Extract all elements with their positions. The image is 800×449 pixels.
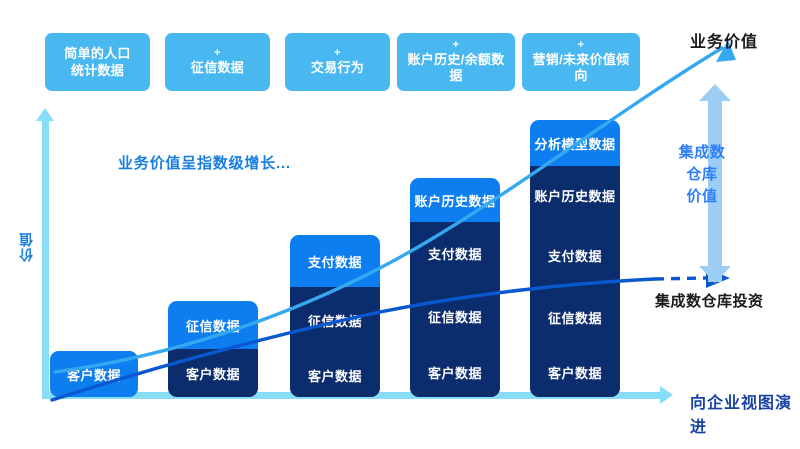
bar-4[interactable]: 账户历史数据 支付数据 征信数据 客户数据 [410,178,500,397]
bar-3-segment-1: 支付数据 [290,235,380,287]
bar-4-segment-2: 支付数据 [410,222,500,284]
segment-label: 客户数据 [67,365,121,384]
bar-3-segment-2: 征信数据 [290,287,380,353]
top-chip-2[interactable]: + 征信数据 [165,33,270,91]
dw-value-line-1: 集成数 [663,142,741,164]
dw-value-line-3: 价值 [663,186,741,208]
dw-value-arrow-down-icon [699,266,731,283]
y-axis-arrow-icon [36,108,54,121]
segment-label: 征信数据 [308,311,362,330]
top-chip-5[interactable]: + 营销/未来价值倾向 [522,33,640,91]
dw-investment-label: 集成数仓库投资 [655,290,764,311]
segment-label: 支付数据 [308,252,362,271]
dw-value-line-2: 仓库 [663,164,741,186]
chip-plus-4: + [453,40,460,51]
bar-2-segment-1: 征信数据 [168,301,258,349]
bar-3-segment-3: 客户数据 [290,353,380,397]
growth-note: 业务价值呈指数级增长... [118,152,291,173]
x-axis-label: 向企业视图演进 [690,389,800,437]
bar-4-segment-4: 客户数据 [410,348,500,397]
bar-3[interactable]: 支付数据 征信数据 客户数据 [290,235,380,397]
bar-4-segment-3: 征信数据 [410,284,500,348]
segment-label: 账户历史数据 [534,186,615,205]
bar-1-segment-1: 客户数据 [50,351,138,397]
chip-line2-1: 统计数据 [71,63,124,79]
chip-plus-2: + [214,48,221,59]
chip-line1-2: 征信数据 [191,60,244,76]
business-value-label: 业务价值 [690,28,758,52]
chip-line1-4: 账户历史/余额数据 [401,52,511,85]
segment-label: 客户数据 [428,363,482,382]
dw-value-label: 集成数 仓库 价值 [663,142,741,207]
bar-2-segment-2: 客户数据 [168,349,258,397]
segment-label: 分析模型数据 [534,134,615,153]
chip-line1-3: 交易行为 [311,60,364,76]
y-axis-label: 价值 [16,232,36,262]
bar-4-segment-1: 账户历史数据 [410,178,500,222]
chip-line1-5: 营销/未来价值倾向 [526,52,636,85]
segment-label: 支付数据 [428,244,482,263]
bar-1[interactable]: 客户数据 [50,351,138,397]
chip-line1-1: 简单的人口 [64,46,131,62]
segment-label: 客户数据 [186,364,240,383]
top-chip-1[interactable]: 简单的人口 统计数据 [45,33,150,91]
segment-label: 账户历史数据 [414,191,495,210]
top-chip-4[interactable]: + 账户历史/余额数据 [397,33,515,91]
bar-5[interactable]: 分析模型数据 账户历史数据 支付数据 征信数据 客户数据 [530,120,620,397]
x-axis-arrow-icon [660,386,673,404]
slide-canvas: 简单的人口 统计数据 + 征信数据 + 交易行为 + 账户历史/余额数据 + 营… [0,0,800,449]
bar-5-segment-5: 客户数据 [530,348,620,397]
segment-label: 征信数据 [428,307,482,326]
bar-5-segment-1: 分析模型数据 [530,120,620,166]
bar-5-segment-3: 支付数据 [530,224,620,286]
segment-label: 征信数据 [548,308,602,327]
segment-label: 客户数据 [308,366,362,385]
bar-5-segment-2: 账户历史数据 [530,166,620,224]
segment-label: 支付数据 [548,246,602,265]
bar-2[interactable]: 征信数据 客户数据 [168,301,258,397]
chip-plus-3: + [334,48,341,59]
y-axis [42,118,49,398]
bar-5-segment-4: 征信数据 [530,286,620,348]
business-value-curve [55,48,722,372]
top-chip-3[interactable]: + 交易行为 [285,33,390,91]
chip-plus-5: + [578,40,585,51]
segment-label: 征信数据 [186,316,240,335]
segment-label: 客户数据 [548,363,602,382]
